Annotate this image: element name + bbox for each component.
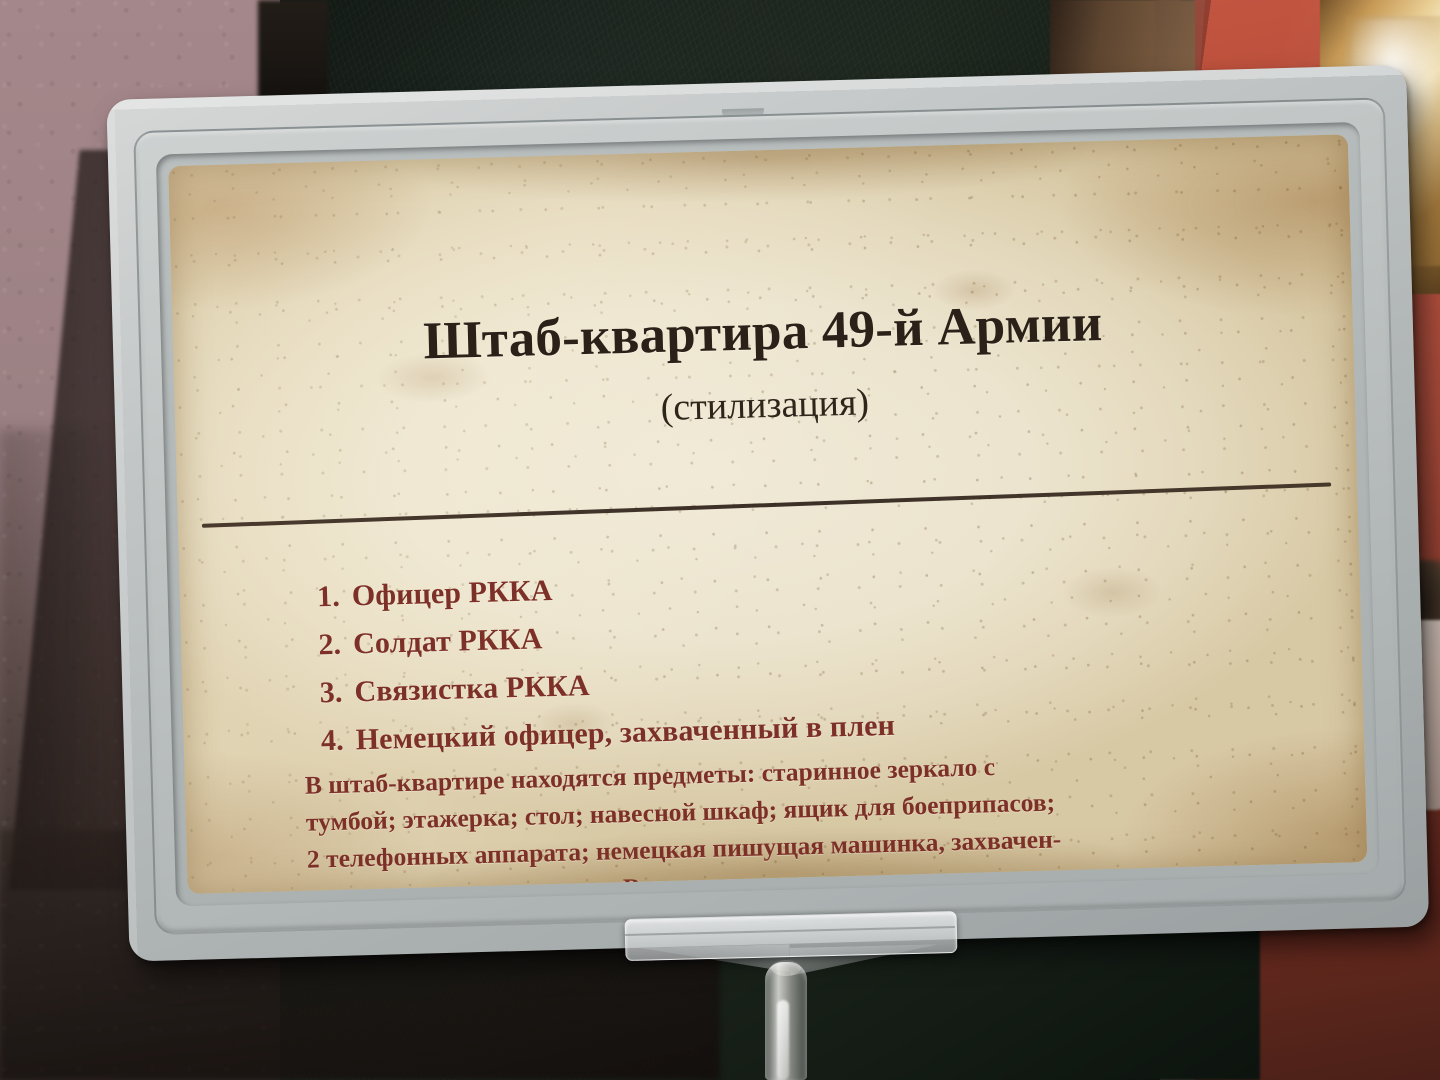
list-item-number: 1. — [297, 580, 340, 615]
list-item-label: Офицер РККА — [351, 574, 553, 613]
placard-numbered-list: 1. Офицер РККА 2. Солдат РККА 3. Связист… — [297, 554, 1302, 773]
stand-bracket — [625, 911, 958, 961]
list-item-number: 2. — [299, 628, 342, 663]
list-item-label: Солдат РККА — [353, 622, 543, 661]
list-item-label: Связистка РККА — [354, 669, 590, 709]
placard-divider-rule — [202, 482, 1331, 527]
placard-paper: Штаб-квартира 49-й Армии (стилизация) 1.… — [168, 134, 1367, 894]
placard-subtitle: (стилизация) — [174, 367, 1355, 443]
list-item-label: Немецкий офицер, захваченный в плен — [355, 709, 895, 758]
stand-post-highlight — [777, 1000, 789, 1080]
placard-content: Штаб-квартира 49-й Армии (стилизация) 1.… — [168, 134, 1367, 894]
placard-title: Штаб-квартира 49-й Армии — [172, 286, 1353, 378]
list-item-number: 4. — [301, 724, 344, 759]
list-item-number: 3. — [300, 676, 343, 711]
exhibit-placard: Штаб-квартира 49-й Армии (стилизация) 1.… — [106, 64, 1439, 979]
